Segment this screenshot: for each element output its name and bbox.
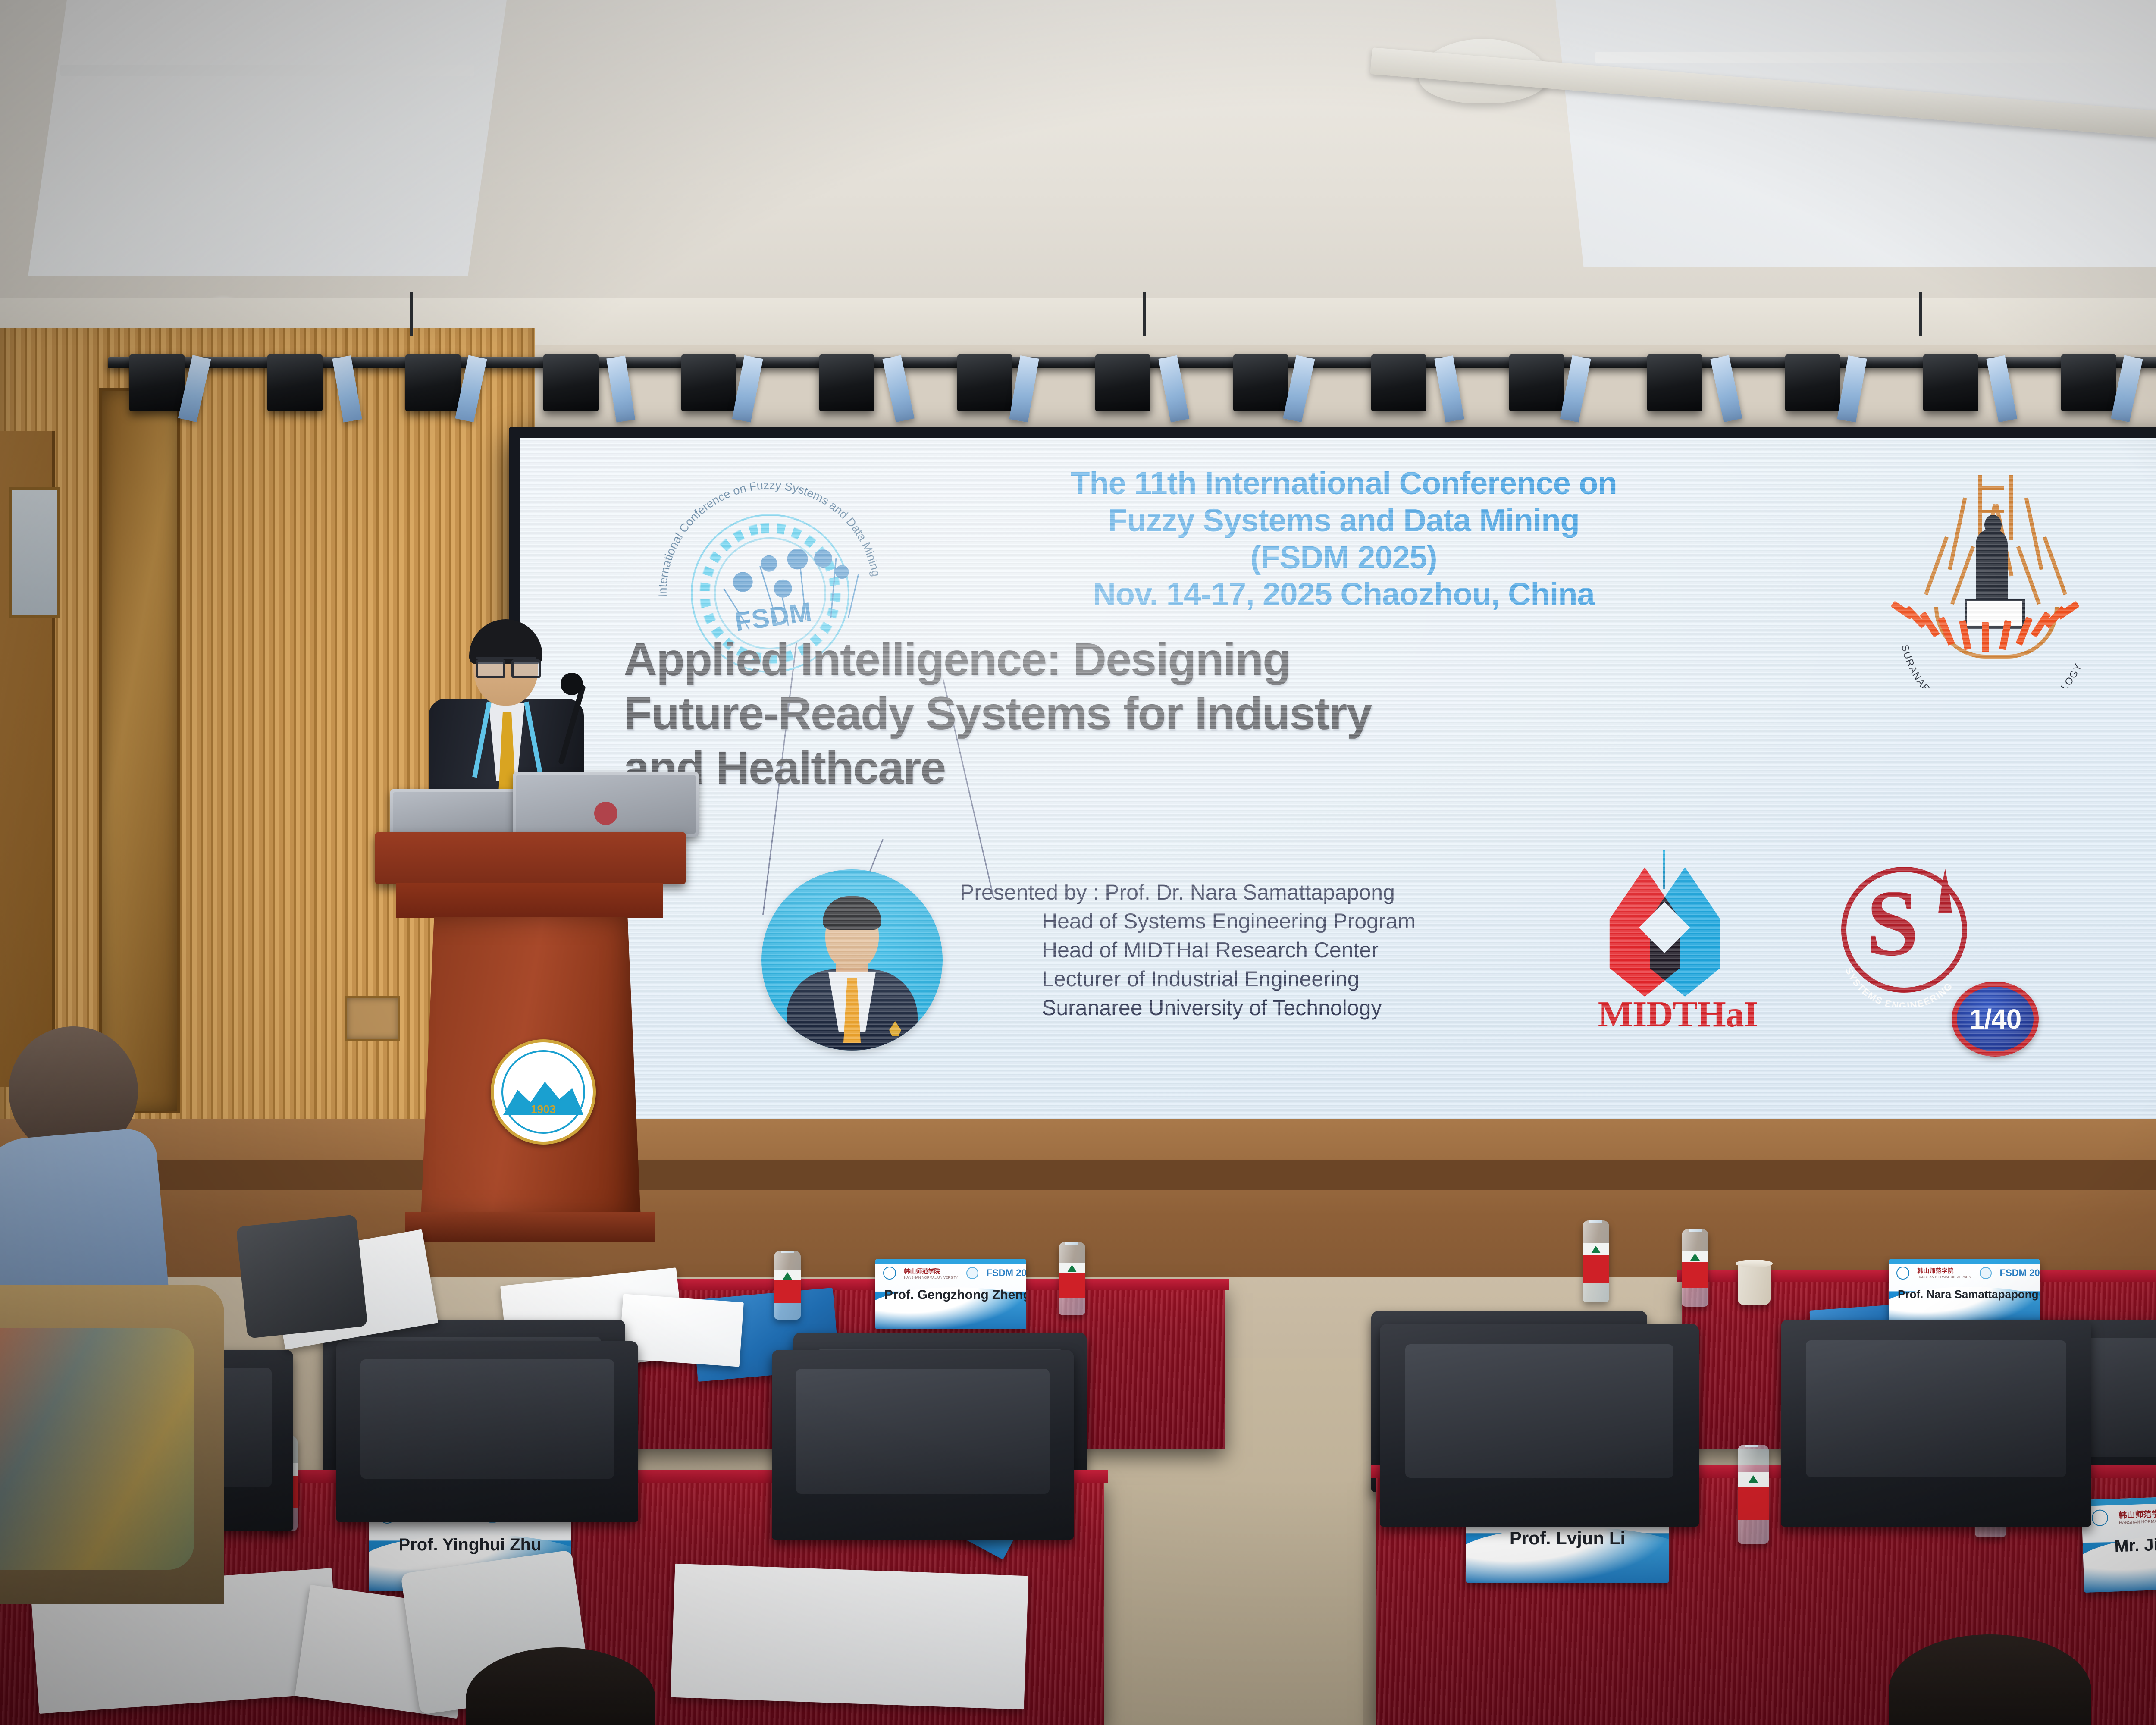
systems-engineering-ring-text: SYSTEMS ENGINEERING xyxy=(1827,852,1982,1007)
stage-light-14 xyxy=(1923,354,1978,411)
header-line-1: The 11th International Conference on xyxy=(977,465,1710,502)
speaker-laptop[interactable] xyxy=(513,772,699,837)
title-line-1: Applied Intelligence: Designing xyxy=(624,632,1960,686)
truss-hanger-1 xyxy=(410,292,413,336)
hp-logo-icon xyxy=(594,802,617,825)
podium-seal-year: 1903 xyxy=(494,1103,593,1116)
header-line-3: (FSDM 2025) xyxy=(977,539,1710,576)
water-bottle-3[interactable] xyxy=(1583,1220,1609,1302)
speaker-podium: 1903 xyxy=(379,832,681,1264)
stage-light-10 xyxy=(1371,354,1426,411)
stage-light-1 xyxy=(129,354,185,411)
conference-hall-photo: FSDM International Conference on Fuzzy S… xyxy=(0,0,2156,1725)
chair-front-3[interactable] xyxy=(772,1350,1074,1540)
stage-light-8 xyxy=(1095,354,1150,411)
placard-name-5: Prof. Gengzhong Zheng xyxy=(884,1288,1017,1302)
svg-text:SYSTEMS ENGINEERING: SYSTEMS ENGINEERING xyxy=(1843,966,1955,1007)
placard-institution-cn-6: 韩山师范学院 xyxy=(1917,1267,1971,1275)
placard-name-3: Prof. Lvjun Li xyxy=(1478,1528,1657,1549)
svg-text:International Conference on Fu: International Conference on Fuzzy System… xyxy=(642,464,883,608)
hanshan-logo-icon xyxy=(883,1267,896,1280)
stage-light-11 xyxy=(1509,354,1564,411)
ceiling-slot-right xyxy=(1595,52,2156,63)
ceiling xyxy=(0,0,2156,345)
open-document-3[interactable] xyxy=(671,1564,1028,1709)
placard-institution-cn-4: 韩山师范学院 xyxy=(2118,1507,2156,1521)
systems-engineering-seal-icon: S SYSTEMS ENGINEERING xyxy=(1827,852,1982,1007)
stage-light-7 xyxy=(957,354,1012,411)
truss-hanger-2 xyxy=(1143,292,1146,336)
placard-institution-cn-5: 韩山师范学院 xyxy=(904,1267,958,1276)
microphone-head-icon xyxy=(561,673,583,695)
placard-event-5: FSDM 2025 xyxy=(987,1267,1026,1279)
title-line-3: and Healthcare xyxy=(624,740,1960,794)
hanshan-logo-icon xyxy=(2091,1509,2108,1526)
slide-counter-value: 1/40 xyxy=(1969,1003,2021,1035)
water-bottle-7[interactable] xyxy=(1738,1445,1769,1544)
ceiling-light-panel-right xyxy=(1555,0,2156,267)
midthai-wordmark: MIDTHaI xyxy=(1585,992,1771,1035)
eyeglasses-icon xyxy=(476,657,536,674)
placard-name-6: Prof. Nara Samattapapong xyxy=(1898,1288,2031,1301)
placard-event-6: FSDM 2025 xyxy=(2000,1267,2040,1279)
truss-hanger-3 xyxy=(1919,292,1922,336)
stage-front-edge xyxy=(0,1160,2156,1190)
stage-light-15 xyxy=(2061,354,2116,411)
attendee-bottom-right xyxy=(1889,1634,2113,1725)
side-door-left[interactable] xyxy=(99,388,180,1113)
ceiling-light-panel-left xyxy=(28,0,507,276)
chair-front-4[interactable] xyxy=(1380,1324,1699,1527)
backpack xyxy=(236,1214,368,1339)
placard-jiachuan-yin: 韩山师范学院 HANSHAN NORMAL UNIVERSITY FSDM 20… xyxy=(2081,1493,2156,1593)
wall-window-left xyxy=(9,487,60,618)
placard-institution-en-6: HANSHAN NORMAL UNIVERSITY xyxy=(1917,1275,1971,1279)
hanshan-university-podium-seal-icon: 1903 xyxy=(491,1039,596,1145)
stage-light-4 xyxy=(543,354,599,411)
placard-name-4: Mr. Jiachuan Yin xyxy=(2094,1531,2156,1557)
ceiling-slot-left xyxy=(60,65,474,76)
attendee-left-foreground xyxy=(0,1026,267,1570)
chair-front-2[interactable] xyxy=(336,1341,638,1522)
placard-name-1: Prof. Yinghui Zhu xyxy=(381,1535,559,1555)
presenter-portrait-photo xyxy=(761,869,943,1051)
stage-light-13 xyxy=(1785,354,1840,411)
header-line-2: Fuzzy Systems and Data Mining xyxy=(977,502,1710,539)
stage-light-12 xyxy=(1647,354,1702,411)
slide-counter-badge: 1/40 xyxy=(1952,982,2039,1057)
midthai-logo-icon: MIDTHaI xyxy=(1585,854,1771,1035)
patterned-garment xyxy=(0,1328,194,1570)
presentation-screen[interactable]: FSDM International Conference on Fuzzy S… xyxy=(520,438,2156,1132)
placard-institution-en-5: HANSHAN NORMAL UNIVERSITY xyxy=(904,1276,958,1280)
placard-nara-samattapapong: 韩山师范学院 HANSHAN NORMAL UNIVERSITY FSDM 20… xyxy=(1889,1259,2040,1328)
slide-header: The 11th International Conference on Fuz… xyxy=(977,465,1710,613)
chair-front-5[interactable] xyxy=(1781,1320,2091,1527)
slide-title: Applied Intelligence: Designing Future-R… xyxy=(624,632,1960,794)
stage-light-6 xyxy=(819,354,874,411)
attendee-bottom-left xyxy=(466,1647,681,1725)
water-bottle-1[interactable] xyxy=(774,1251,801,1320)
stage-light-9 xyxy=(1233,354,1288,411)
water-bottle-2[interactable] xyxy=(1059,1242,1085,1315)
stage-light-3 xyxy=(405,354,461,411)
fsdm-logo-icon xyxy=(966,1267,978,1279)
placard-gengzhong-zheng: 韩山师范学院 HANSHAN NORMAL UNIVERSITY FSDM 20… xyxy=(875,1259,1026,1329)
stage-lighting-truss xyxy=(108,332,2156,427)
stage-light-5 xyxy=(681,354,736,411)
hanshan-logo-icon xyxy=(1896,1267,1909,1280)
speaker-tablet[interactable] xyxy=(390,789,533,837)
coffee-cup[interactable] xyxy=(1738,1264,1771,1305)
header-line-4: Nov. 14-17, 2025 Chaozhou, China xyxy=(977,576,1710,613)
stage-light-2 xyxy=(267,354,323,411)
title-line-2: Future-Ready Systems for Industry xyxy=(624,686,1960,740)
fsdm-logo-icon xyxy=(1980,1267,1992,1279)
water-bottle-4[interactable] xyxy=(1682,1229,1708,1307)
